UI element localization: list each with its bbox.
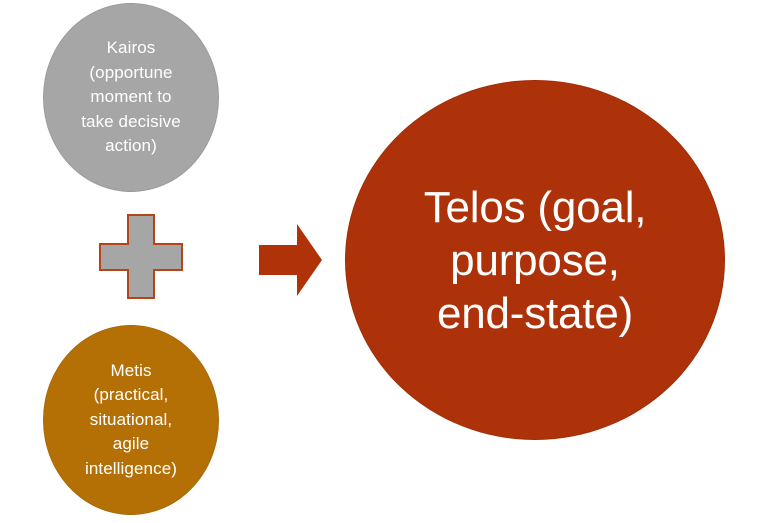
plus-icon [99,214,183,299]
node-telos[interactable]: Telos (goal, purpose, end-state) [345,80,725,440]
diagram-canvas: Kairos (opportune moment to take decisiv… [0,0,768,523]
node-kairos[interactable]: Kairos (opportune moment to take decisiv… [43,3,219,192]
node-kairos-label: Kairos (opportune moment to take decisiv… [71,36,191,159]
node-metis[interactable]: Metis (practical, situational, agile int… [43,325,219,515]
arrow-right-icon [259,224,322,296]
node-metis-label: Metis (practical, situational, agile int… [75,359,187,482]
node-telos-label: Telos (goal, purpose, end-state) [406,181,665,340]
